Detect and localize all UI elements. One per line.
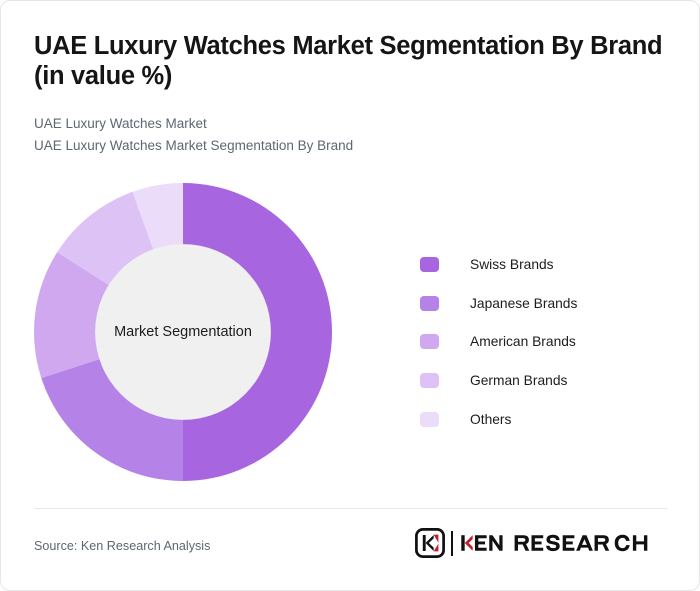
footer-divider: [34, 508, 668, 509]
subtitle-block: UAE Luxury Watches Market UAE Luxury Wat…: [34, 113, 654, 157]
legend-item[interactable]: Japanese Brands: [420, 284, 577, 323]
source-note: Source: Ken Research Analysis: [34, 539, 210, 553]
page-title: UAE Luxury Watches Market Segmentation B…: [34, 31, 664, 91]
legend-swatch: [420, 373, 439, 388]
legend-item[interactable]: American Brands: [420, 322, 577, 361]
legend-item[interactable]: Swiss Brands: [420, 245, 577, 284]
legend-label: German Brands: [470, 373, 567, 388]
donut-svg: [34, 183, 332, 481]
legend-label: American Brands: [470, 334, 576, 349]
legend-swatch: [420, 412, 439, 427]
logo-divider: [451, 531, 453, 556]
legend-swatch: [420, 257, 439, 272]
legend-label: Swiss Brands: [470, 257, 554, 272]
subtitle-line-1: UAE Luxury Watches Market: [34, 113, 654, 135]
legend-label: Others: [470, 412, 511, 427]
legend-label: Japanese Brands: [470, 296, 577, 311]
logo-wordmark: [460, 530, 668, 556]
subtitle-line-2: UAE Luxury Watches Market Segmentation B…: [34, 135, 654, 157]
donut-chart: Market Segmentation: [34, 183, 332, 481]
chart-legend: Swiss BrandsJapanese BrandsAmerican Bran…: [420, 245, 577, 438]
donut-hole: [95, 244, 271, 420]
legend-swatch: [420, 296, 439, 311]
ken-research-logo: [414, 525, 668, 561]
chart-card: UAE Luxury Watches Market Segmentation B…: [0, 0, 700, 591]
logo-mark-icon: [414, 527, 446, 559]
legend-item[interactable]: Others: [420, 400, 577, 439]
legend-swatch: [420, 334, 439, 349]
legend-item[interactable]: German Brands: [420, 361, 577, 400]
